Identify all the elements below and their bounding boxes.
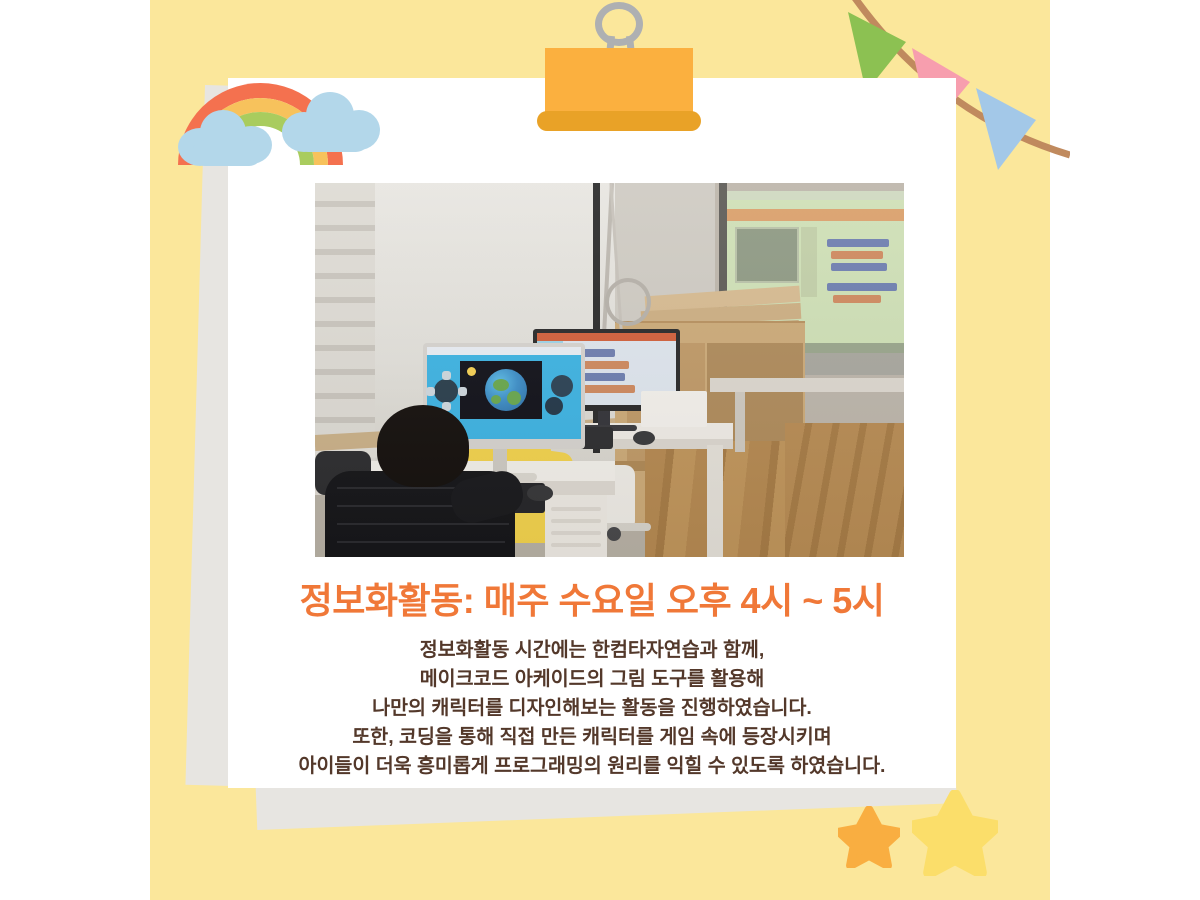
star-small-icon bbox=[838, 806, 900, 873]
body-line: 메이크코드 아케이드의 그림 도구를 활용해 bbox=[228, 665, 956, 694]
body-line: 또한, 코딩을 통해 직접 만든 캐릭터를 게임 속에 등장시키며 bbox=[228, 723, 956, 752]
cloud-right-icon bbox=[282, 92, 382, 154]
star-large-icon bbox=[912, 790, 998, 881]
body-line: 나만의 캐릭터를 디자인해보는 활동을 진행하였습니다. bbox=[228, 694, 956, 723]
body-text: 정보화활동 시간에는 한컴타자연습과 함께, 메이크코드 아케이드의 그림 도구… bbox=[228, 636, 956, 781]
body-line: 아이들이 더욱 흥미롭게 프로그래밍의 원리를 익힐 수 있도록 하였습니다. bbox=[228, 752, 956, 781]
cloud-left-icon bbox=[178, 106, 276, 166]
binder-clip-icon bbox=[545, 0, 693, 135]
classroom-activity-photo bbox=[315, 183, 904, 557]
page-title: 정보화활동: 매주 수요일 오후 4시 ~ 5시 bbox=[228, 572, 956, 624]
body-line: 정보화활동 시간에는 한컴타자연습과 함께, bbox=[228, 636, 956, 665]
poster-stage: 정보화활동: 매주 수요일 오후 4시 ~ 5시 정보화활동 시간에는 한컴타자… bbox=[0, 0, 1200, 900]
